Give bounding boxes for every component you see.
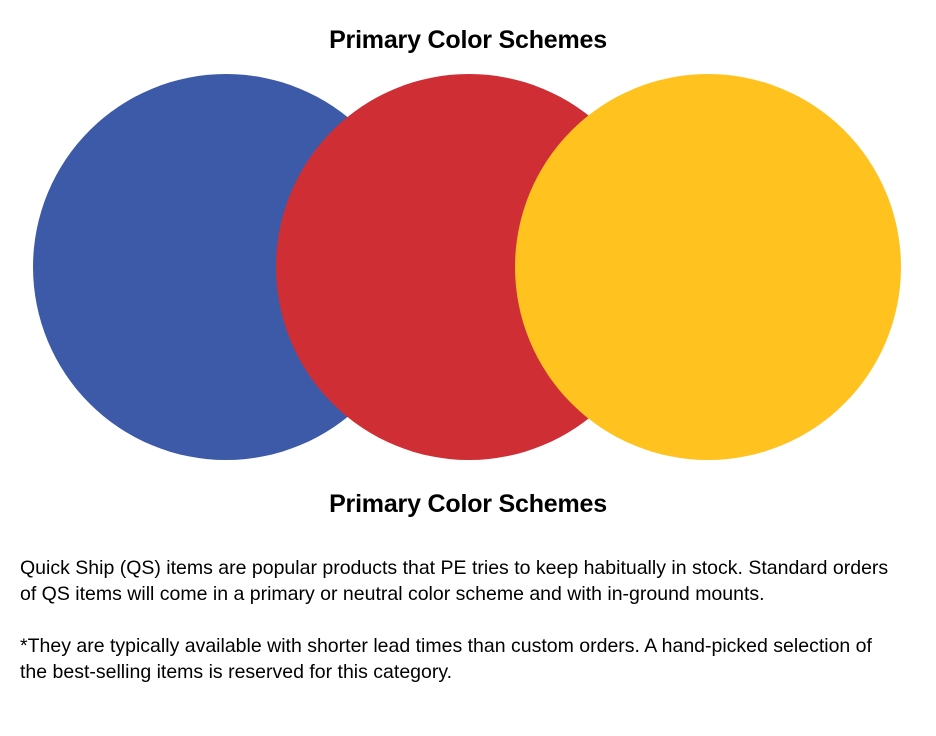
color-circle-yellow [515, 74, 901, 460]
slide-page: Primary Color Schemes Primary Color Sche… [0, 0, 936, 736]
page-title-bottom: Primary Color Schemes [0, 489, 936, 519]
paragraph-lead-time-note: *They are typically available with short… [20, 633, 900, 685]
paragraph-quick-ship-description: Quick Ship (QS) items are popular produc… [20, 555, 900, 607]
body-copy: Quick Ship (QS) items are popular produc… [20, 555, 900, 685]
color-scheme-diagram [0, 0, 936, 478]
